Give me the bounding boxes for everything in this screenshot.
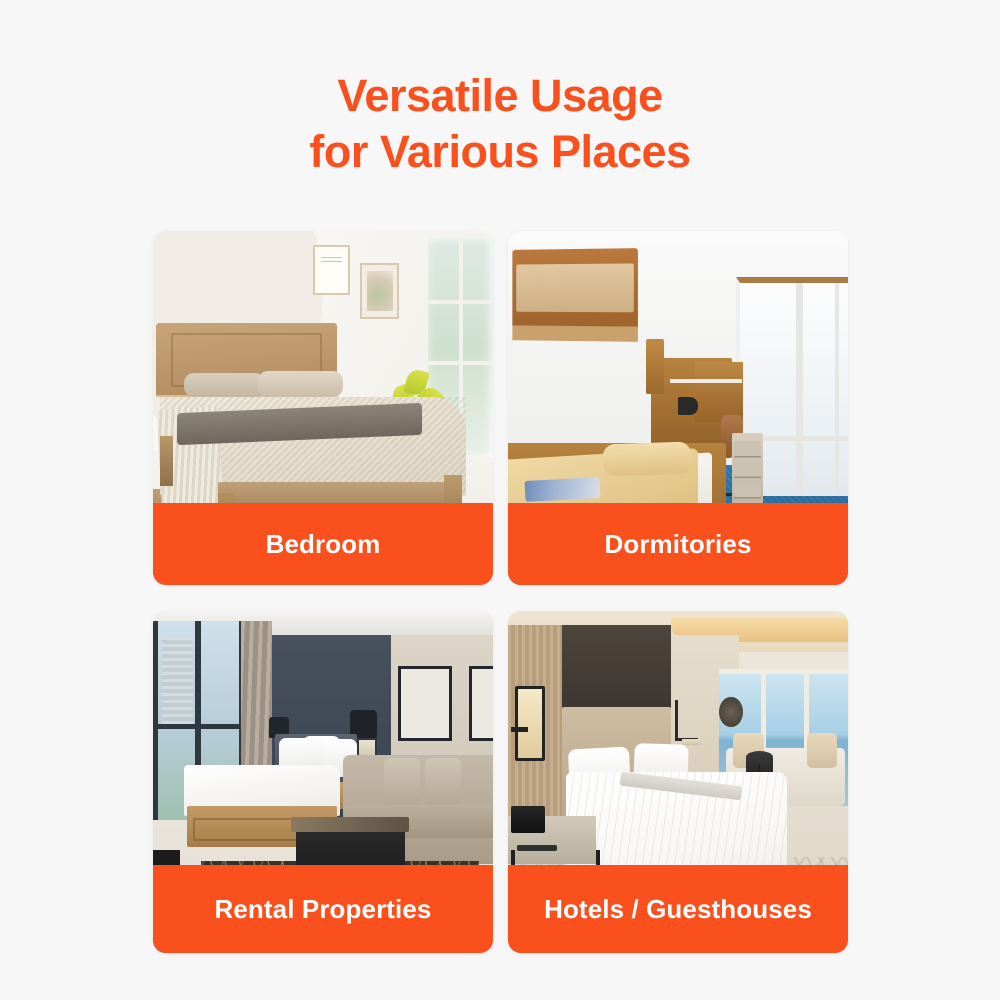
wall-art-icon xyxy=(313,245,350,295)
card-label: Dormitories xyxy=(604,529,751,560)
usage-card-dormitories[interactable]: Dormitories xyxy=(508,231,848,585)
wall-art-icon xyxy=(469,666,493,741)
page-title-line-1: Versatile Usage xyxy=(0,68,1000,124)
card-label: Hotels / Guesthouses xyxy=(544,894,812,925)
usage-card-hotels-guesthouses[interactable]: Hotels / Guesthouses xyxy=(508,611,848,953)
telephone-icon xyxy=(511,806,545,833)
usage-card-grid: Bedroom Dormitories xyxy=(153,231,848,953)
promo-page: Versatile Usage for Various Places Bedro… xyxy=(0,0,1000,1000)
card-caption-rental-properties: Rental Properties xyxy=(153,865,493,953)
card-label: Bedroom xyxy=(266,529,381,560)
usage-card-bedroom[interactable]: Bedroom xyxy=(153,231,493,585)
lantern-icon xyxy=(515,686,546,761)
wall-art-icon xyxy=(398,666,452,741)
page-title: Versatile Usage for Various Places xyxy=(0,68,1000,180)
wall-clock-icon xyxy=(719,697,743,728)
page-title-line-2: for Various Places xyxy=(0,124,1000,180)
card-caption-bedroom: Bedroom xyxy=(153,503,493,585)
card-caption-dormitories: Dormitories xyxy=(508,503,848,585)
card-caption-hotels-guesthouses: Hotels / Guesthouses xyxy=(508,865,848,953)
wall-shelf-icon xyxy=(513,248,638,342)
card-label: Rental Properties xyxy=(215,894,432,925)
wall-art-icon xyxy=(360,263,399,320)
usage-card-rental-properties[interactable]: Rental Properties xyxy=(153,611,493,953)
